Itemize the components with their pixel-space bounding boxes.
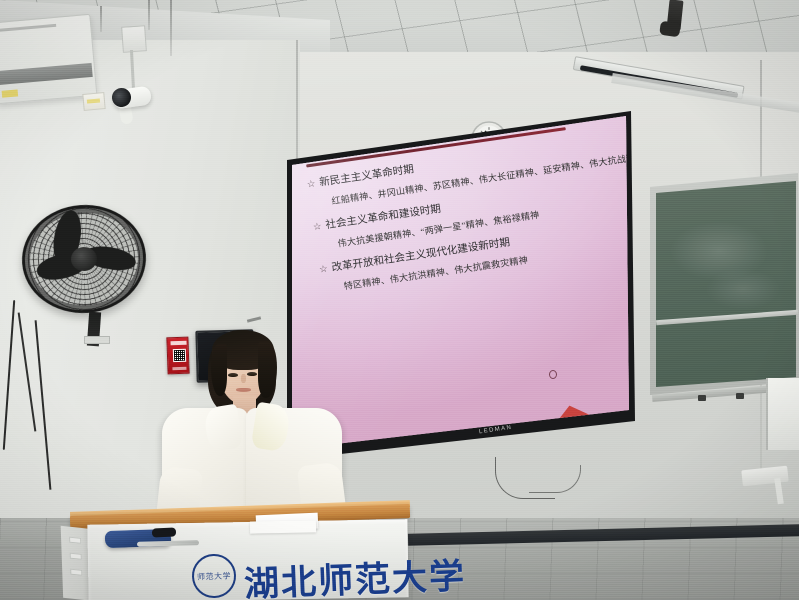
ceiling-cable-b <box>170 0 172 56</box>
fan-wall-bracket <box>84 336 110 344</box>
podium: 师范大学 湖北师范大学 <box>64 498 414 600</box>
podium-side-slot <box>70 553 82 560</box>
eye-right <box>247 372 257 376</box>
air-conditioner-unit <box>0 14 97 104</box>
wall-window <box>766 378 799 450</box>
ceiling-projector <box>659 21 681 38</box>
university-logo-text: 师范大学 <box>197 570 231 582</box>
wall-switch[interactable] <box>82 92 105 111</box>
chalk-residue <box>656 179 796 391</box>
blue-item-handle <box>152 527 176 537</box>
ceiling-cable-c <box>100 6 102 32</box>
hair-side-left <box>211 344 227 396</box>
ac-label <box>2 89 19 97</box>
ac-vent <box>0 63 93 85</box>
chalkboard-clip <box>736 393 744 399</box>
ac-grille <box>0 24 56 32</box>
star-icon: ☆ <box>306 178 316 190</box>
star-icon: ☆ <box>319 264 329 276</box>
chalkboard <box>650 173 799 403</box>
chalkboard-surface <box>656 179 796 391</box>
slide-sun-icon <box>549 370 557 379</box>
classroom-photo: 《中国共产党简史》中提及了很多种党的精神 ☆ 新民主主义革命时期 红船精神、井冈… <box>0 0 799 600</box>
ceiling-cable-a <box>148 0 150 30</box>
wall-fan <box>18 201 149 317</box>
camera-junction-box <box>121 25 147 53</box>
mouth <box>236 388 251 392</box>
podium-side-slot <box>70 569 82 576</box>
papers-on-podium-secondary <box>250 520 316 533</box>
university-name: 湖北师范大学 <box>243 548 467 600</box>
chalkboard-clip <box>698 395 706 401</box>
star-icon: ☆ <box>312 221 322 233</box>
podium-side-slot <box>69 537 81 544</box>
eye-left <box>228 373 238 377</box>
nose <box>241 374 246 383</box>
